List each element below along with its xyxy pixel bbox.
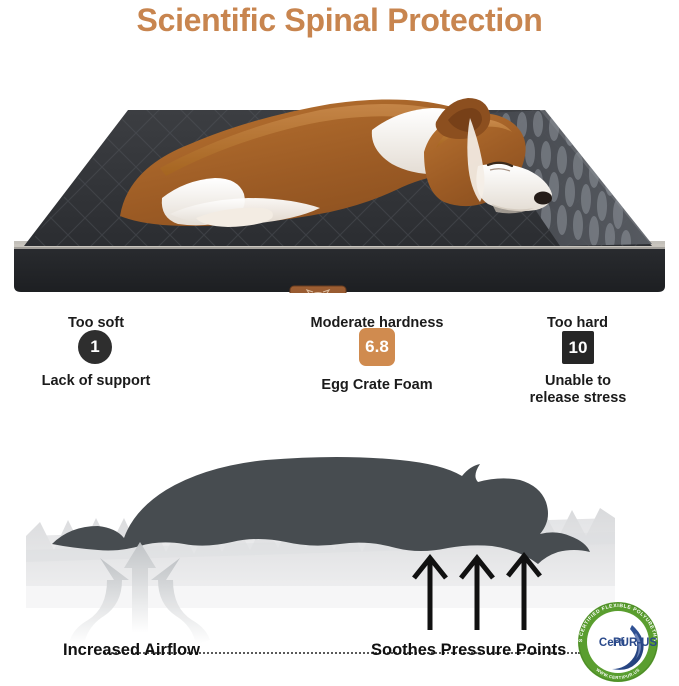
badge-word-purus: PUR-US (613, 637, 657, 649)
scale-bottom-label-left: Lack of support (10, 373, 182, 390)
bed-base (14, 241, 665, 292)
scale-marker-1: 1 (78, 330, 112, 364)
brand-logo-patch (290, 286, 346, 293)
scale-top-label-right: Too hard (500, 315, 655, 332)
scale-bottom-label-right-line1: Unable to (498, 373, 658, 390)
scale-marker-10: 10 (562, 331, 594, 364)
label-soothes-pressure-points: Soothes Pressure Points (371, 641, 566, 660)
page-title: Scientific Spinal Protection (0, 2, 679, 39)
product-photo (0, 48, 679, 293)
scale-bottom-right: Unable to release stress (498, 373, 658, 406)
scale-marker-68: 6.8 (359, 328, 395, 366)
scale-bottom-left: Lack of support (10, 373, 182, 390)
label-increased-airflow: Increased Airflow (63, 641, 200, 660)
scale-bottom-middle: Egg Crate Foam (292, 377, 462, 394)
scale-bottom-label-middle: Egg Crate Foam (292, 377, 462, 394)
certipur-us-badge: CONTAINS CERTIFIED FLEXIBLE POLYURETHANE… (572, 597, 664, 686)
scale-point-too-hard: Too hard (500, 315, 655, 332)
scale-bottom-label-right-line2: release stress (498, 390, 658, 407)
infographic-page: Scientific Spinal Protection (0, 0, 679, 686)
